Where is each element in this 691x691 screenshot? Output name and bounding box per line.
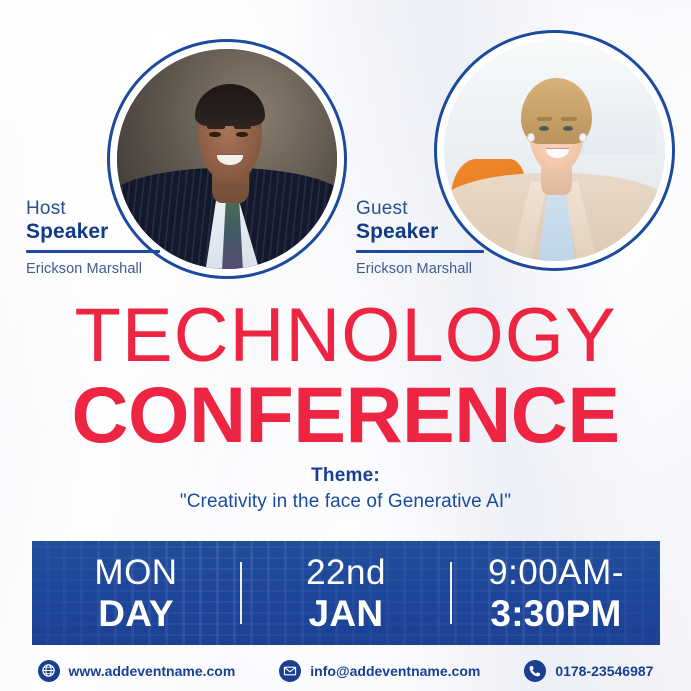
guest-speaker-role: Guest — [356, 198, 484, 219]
theme-text: "Creativity in the face of Generative AI… — [0, 491, 691, 513]
guest-speaker-title: Speaker — [356, 220, 484, 245]
footer-phone-text: 0178-23546987 — [555, 663, 653, 679]
host-speaker-title: Speaker — [26, 220, 160, 245]
banner-time-top: 9:00AM- — [452, 555, 660, 590]
banner-divider-1 — [240, 562, 242, 624]
event-poster: Host Speaker Erickson Marshall — [0, 0, 691, 691]
guest-speaker-name: Erickson Marshall — [356, 261, 484, 277]
phone-icon — [524, 660, 546, 682]
footer-website-text: www.addeventname.com — [69, 663, 236, 679]
banner-divider-2 — [450, 562, 452, 624]
host-speaker-caption: Host Speaker Erickson Marshall — [26, 198, 160, 277]
earring-left — [527, 133, 535, 143]
date-time-banner: MON DAY 22nd JAN 9:00AM- 3:30PM — [32, 541, 660, 645]
footer-website-item[interactable]: www.addeventname.com — [16, 660, 258, 682]
banner-date-column: 22nd JAN — [242, 555, 450, 632]
banner-day-top: MON — [32, 555, 240, 590]
headline-line-conference: CONFERENCE — [0, 377, 691, 453]
eyebrow-left — [537, 117, 552, 121]
banner-date-bottom: JAN — [242, 595, 450, 632]
eyebrow-left — [207, 124, 225, 129]
banner-time-column: 9:00AM- 3:30PM — [452, 555, 660, 632]
event-theme: Theme: "Creativity in the face of Genera… — [0, 465, 691, 513]
host-speaker-role: Host — [26, 198, 160, 219]
eyebrow-right — [234, 124, 252, 129]
host-speaker-underline — [26, 250, 160, 253]
footer-email-text: info@addeventname.com — [310, 663, 480, 679]
footer-email-item[interactable]: info@addeventname.com — [257, 660, 502, 682]
banner-date-top: 22nd — [242, 555, 450, 590]
eyebrow-right — [561, 117, 576, 121]
event-headline: TECHNOLOGY CONFERENCE — [0, 300, 691, 453]
theme-label: Theme: — [0, 465, 691, 487]
host-speaker-block: Host Speaker Erickson Marshall — [0, 0, 345, 292]
host-speaker-name: Erickson Marshall — [26, 261, 160, 277]
contact-footer: www.addeventname.com info@addeventname.c… — [0, 650, 691, 691]
banner-row: MON DAY 22nd JAN 9:00AM- 3:30PM — [32, 541, 660, 645]
banner-time-bottom: 3:30PM — [452, 595, 660, 632]
earring-right — [579, 133, 587, 143]
speakers-section: Host Speaker Erickson Marshall — [0, 0, 691, 292]
guest-speaker-caption: Guest Speaker Erickson Marshall — [356, 198, 484, 277]
eye-right — [236, 132, 248, 138]
headline-line-technology: TECHNOLOGY — [0, 300, 691, 371]
envelope-icon — [279, 660, 301, 682]
banner-day-bottom: DAY — [32, 595, 240, 632]
globe-icon — [38, 660, 60, 682]
guest-speaker-block: Guest Speaker Erickson Marshall — [330, 0, 691, 292]
banner-day-column: MON DAY — [32, 555, 240, 632]
guest-speaker-underline — [356, 250, 484, 253]
footer-phone-item[interactable]: 0178-23546987 — [502, 660, 675, 682]
